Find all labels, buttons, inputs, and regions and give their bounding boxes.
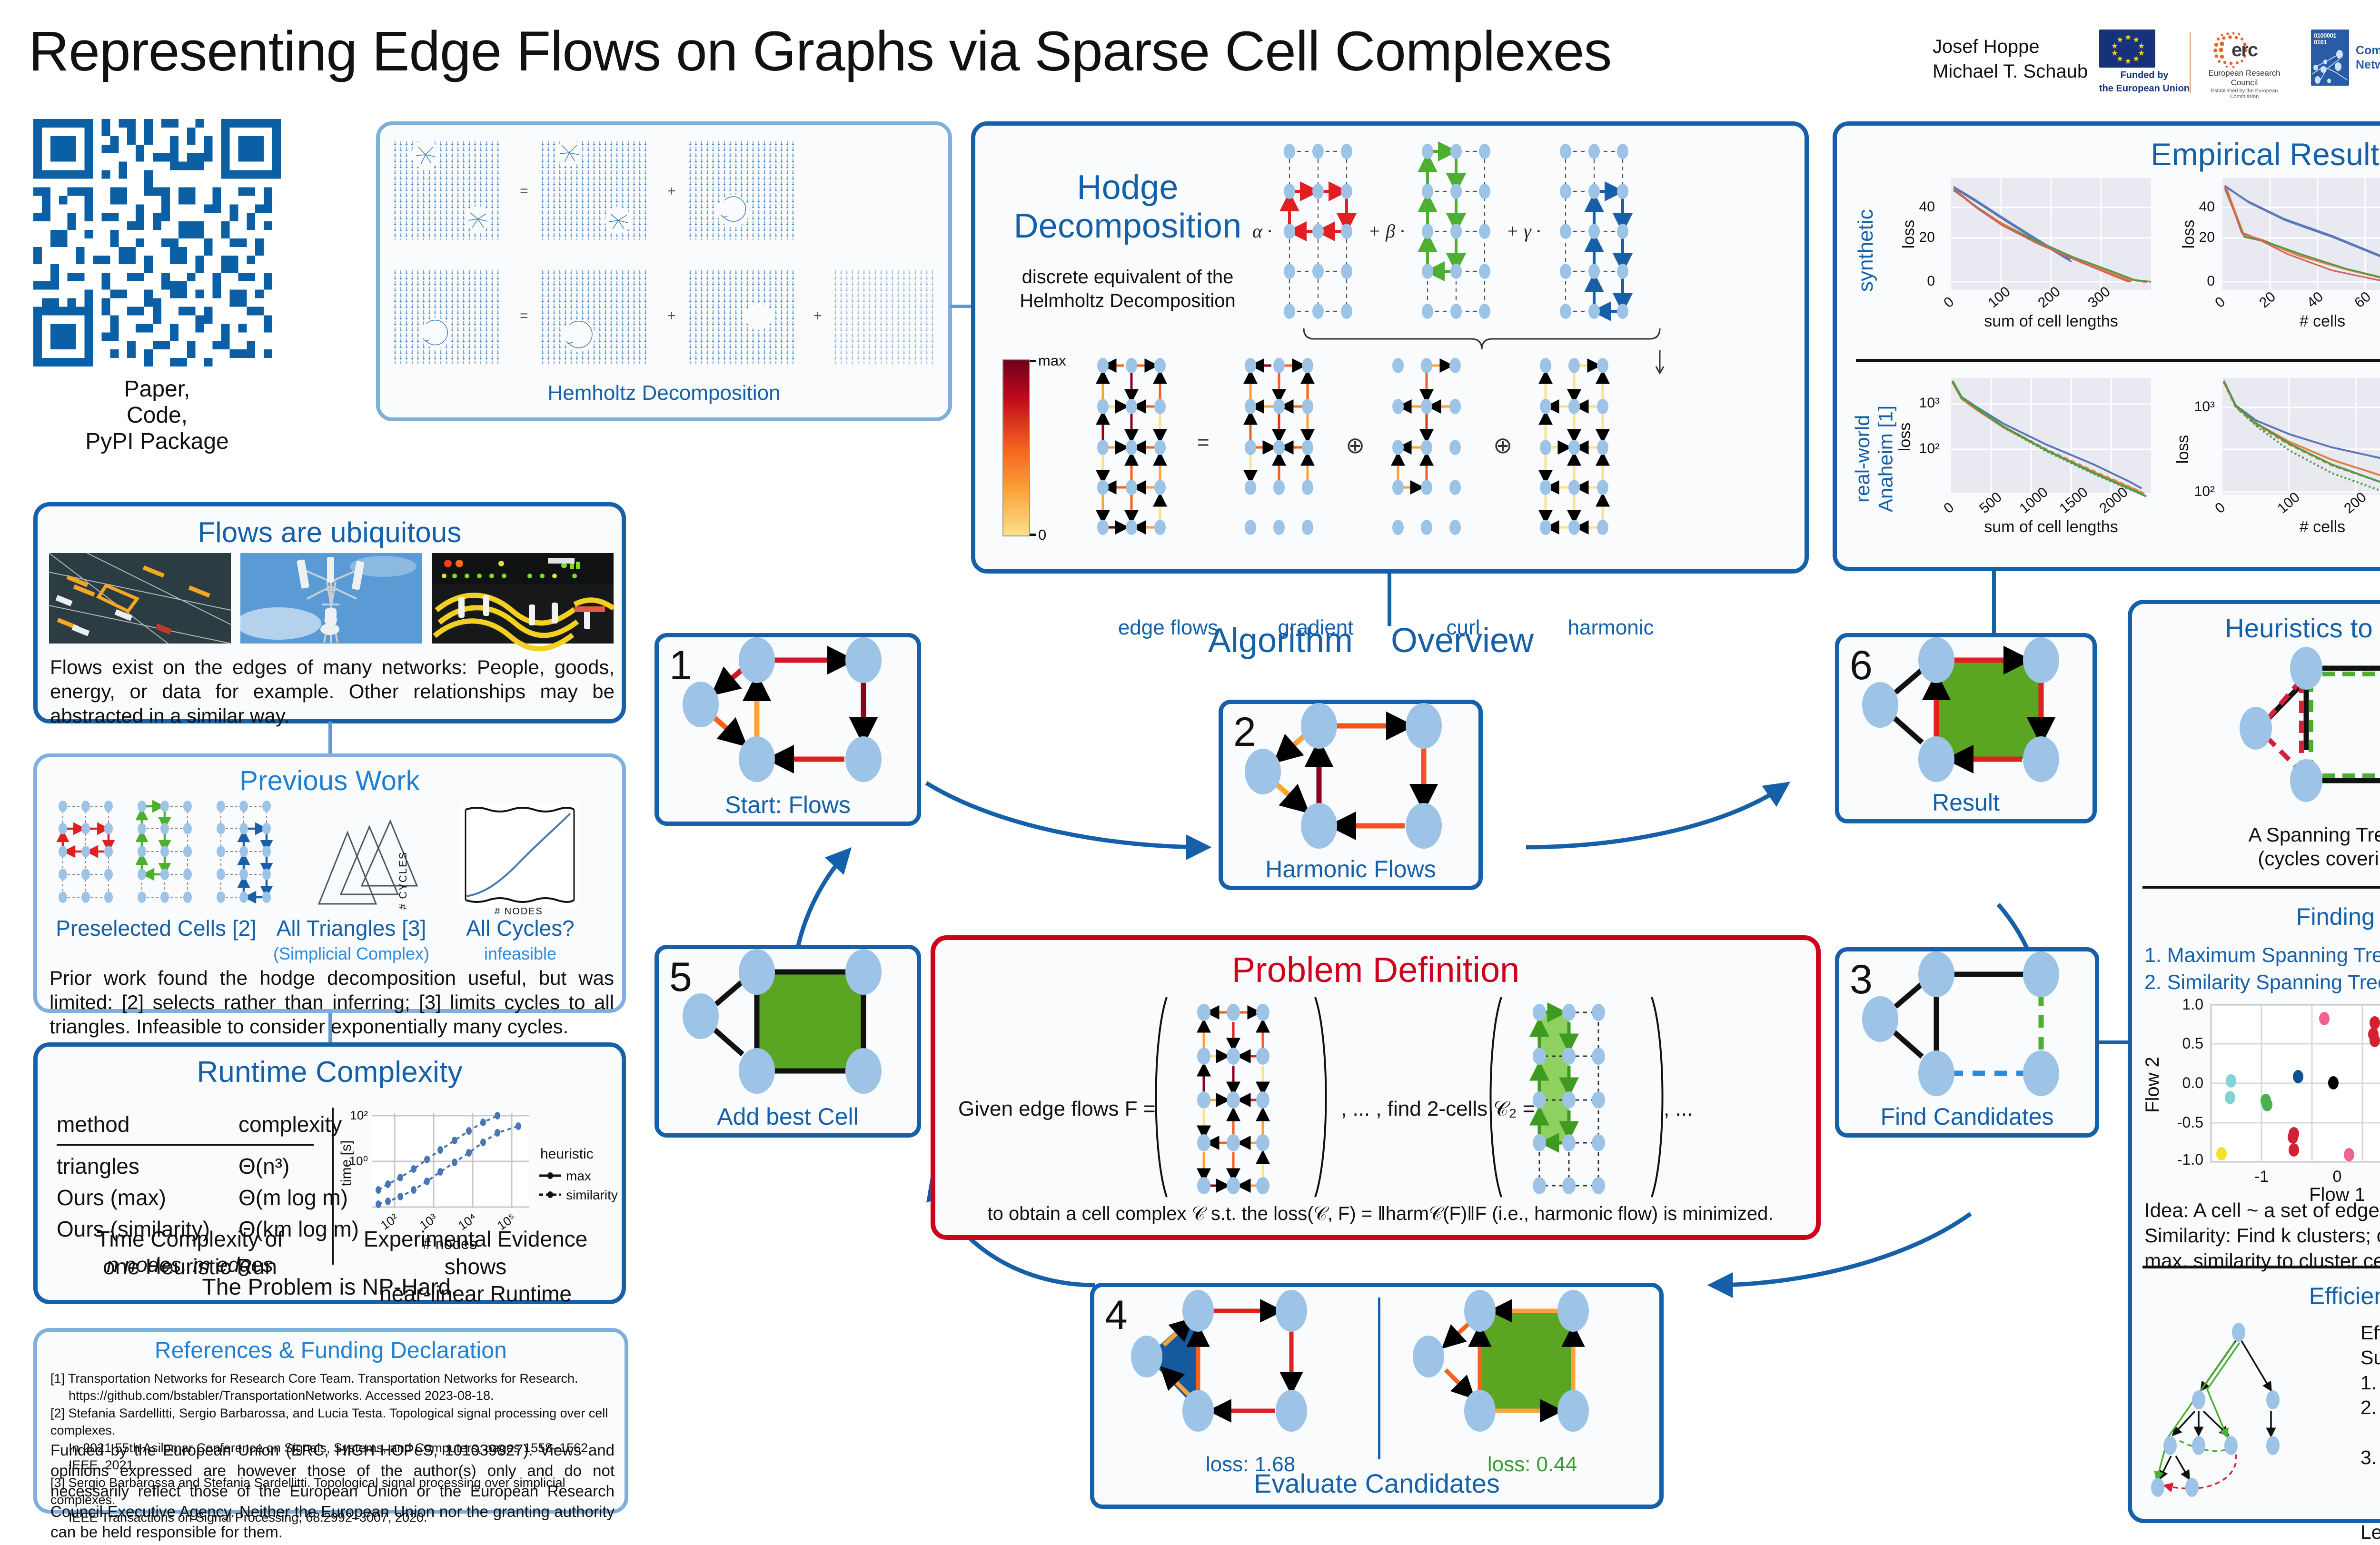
empirical-title: Empirical Results	[1837, 136, 2380, 172]
author-list: Josef Hoppe Michael T. Schaub	[1933, 34, 2088, 84]
svg-text:0: 0	[1927, 273, 1935, 289]
svg-text:erc: erc	[2231, 40, 2258, 60]
cns-logo: 0100001 0101 Computational Network Scien…	[2311, 30, 2380, 86]
heuristics-panel: Heuristics to find Cell Candidates A Spa…	[2128, 600, 2380, 1523]
svg-text:0.0: 0.0	[2182, 1074, 2203, 1091]
svg-text:-0.5: -0.5	[2177, 1114, 2203, 1131]
hodge-top-row: α ·	[1251, 140, 1794, 340]
efficient-line-4: between sums (green dashed line)	[2360, 1420, 2380, 1445]
previous-work-figures: # CYCLES # NODES	[46, 799, 617, 918]
cns-caption-line1: Computational	[2356, 43, 2380, 58]
problem-cell-grid	[1485, 992, 1676, 1211]
hodge-colorbar-min: 0	[1038, 526, 1046, 543]
previous-work-labels: Preselected Cells [2] All Triangles [3] …	[51, 915, 613, 964]
problem-footer: to obtain a cell complex 𝒞 s.t. the loss…	[954, 1203, 1806, 1225]
svg-text:0: 0	[1941, 499, 1957, 516]
svg-text:60: 60	[2351, 289, 2374, 311]
previous-work-label-2: All Triangles [3]	[261, 915, 442, 941]
funding-declaration: Funded by the European Union (ERC, HIGH-…	[50, 1440, 615, 1542]
efficient-line-6: (green and red dashed lines)	[2360, 1470, 2380, 1495]
references-title: References & Funding Declaration	[37, 1337, 625, 1364]
problem-lead: Given edge flows F =	[958, 1097, 1156, 1121]
author-name: Michael T. Schaub	[1933, 59, 2088, 84]
svg-text:10²: 10²	[350, 1108, 368, 1122]
svg-text:loss: loss	[2180, 220, 2198, 248]
spanning-tree-cycle-basis-figure	[2213, 649, 2380, 825]
flows-ubiquitous-panel: Flows are ubiquitous	[33, 502, 626, 723]
scatter-ylabel: Flow 2	[2142, 1057, 2163, 1113]
spanning-trees-title: Finding Spanning Trees	[2132, 903, 2380, 931]
cns-caption-line2: Network Science	[2356, 58, 2380, 72]
empirical-row-label-synthetic: synthetic	[1854, 179, 1878, 322]
spanning-idea-text: Idea: A cell ~ a set of edges with simil…	[2144, 1198, 2380, 1274]
svg-text:20: 20	[1919, 229, 1935, 245]
flows-ubiquitous-body: Flows exist on the edges of many network…	[50, 655, 615, 728]
svg-text:-1.0: -1.0	[2177, 1151, 2203, 1168]
step-1-start-flows: 1 Start: Flows	[654, 633, 921, 826]
previous-work-sub-2: (Simplicial Complex)	[261, 944, 442, 964]
svg-text:-1: -1	[2254, 1168, 2269, 1186]
runtime-divider	[332, 1108, 334, 1265]
step-4-label: Evaluate Candidates	[1094, 1468, 1659, 1499]
chart-synthetic-xlabel-2: # cells	[2300, 312, 2345, 330]
traffic-intersection-photo	[49, 553, 231, 644]
helmholtz-panel: = + =	[376, 121, 952, 421]
chart-synthetic: 0 100 200 300 sum of cell lengths 40 20 …	[1889, 173, 2380, 326]
spanning-idea-l1: Idea: A cell ~ a set of edges with simil…	[2144, 1198, 2380, 1223]
helmholtz-caption: Hemholtz Decomposition	[380, 381, 948, 405]
heuristics-divider-1	[2142, 886, 2380, 889]
vector-field-total	[392, 140, 502, 240]
helmholtz-plus-3: +	[813, 308, 822, 324]
svg-text:40: 40	[1919, 199, 1935, 215]
eu-funding-logo: ★ ★ ★ ★ ★ ★ ★ ★ ★ ★ Funded by the Europe…	[2099, 30, 2190, 94]
hodge-colorbar: max 0	[994, 354, 1047, 554]
step-4-left-graph	[1117, 1292, 1384, 1449]
reference-line-1: Stefania Sardellitti, Sergio Barbarossa,…	[50, 1406, 608, 1437]
efficient-footer: Length via lowest common ancestor	[2360, 1520, 2380, 1545]
efficient-line-5: 3. cycle flow = tree flow + edge flow	[2360, 1445, 2380, 1470]
runtime-panel: Runtime Complexity method complexity tri…	[33, 1042, 626, 1304]
qr-caption-line: Code,	[33, 402, 281, 428]
eu-caption-line2: the European Union	[2099, 83, 2190, 94]
runtime-legend-title: heuristic	[540, 1146, 594, 1162]
qr-caption: Paper, Code, PyPI Package	[33, 376, 281, 455]
problem-tail: , ...	[1664, 1097, 1693, 1121]
flows-ubiquitous-images	[49, 553, 614, 644]
cns-bits-line2: 0101	[2311, 39, 2349, 46]
problem-edge-flow-grid	[1150, 992, 1345, 1211]
previous-work-body: Prior work found the hodge decomposition…	[50, 966, 614, 1039]
efficient-tree-figure	[2151, 1318, 2351, 1508]
erc-subcaption: Established by the European Commission	[2201, 88, 2287, 99]
flow-cluster-scatter: 1.0 0.5 0.0 -0.5 -1.0 Flow 2 -1 0 1 Flow…	[2144, 1000, 2380, 1190]
reference-number: [1]	[50, 1371, 65, 1386]
spanning-item-2: 2. Similarity Spanning Trees (edges with…	[2144, 969, 2380, 996]
hodge-oplus-1: ⊕	[1346, 433, 1365, 458]
runtime-title: Runtime Complexity	[38, 1055, 622, 1089]
erc-logo: erc European Research Council Establishe…	[2201, 30, 2287, 99]
step-3-find-candidates: 3 Find Candidates	[1835, 947, 2099, 1138]
svg-text:10³: 10³	[2194, 399, 2215, 415]
runtime-legend-max: max	[566, 1169, 591, 1183]
empirical-results-panel: Empirical Results synthetic 0 100	[1833, 121, 2380, 571]
svg-text:20: 20	[2256, 289, 2279, 311]
step-4-right-graph	[1399, 1292, 1666, 1449]
complexity-table-header-method: method	[57, 1111, 238, 1142]
efficient-line-1: Sum of flows around induced cycles	[2360, 1345, 2380, 1370]
hodge-bottom-row: =	[1085, 354, 1785, 535]
svg-text:40: 40	[2199, 199, 2215, 215]
heuristics-caption-l2: (cycles covering the harmonic space)	[2132, 847, 2380, 871]
complexity-row-method: triangles	[57, 1150, 238, 1182]
runtime-left-caption: Time Complexity of one Heuristic Run	[57, 1226, 323, 1280]
chart-synthetic-xlabel-1: sum of cell lengths	[1984, 312, 2118, 330]
helmholtz-eq-2: =	[520, 308, 528, 324]
step-6-label: Result	[1839, 789, 2092, 816]
helmholtz-plus-1: +	[667, 183, 676, 199]
svg-text:0: 0	[2333, 1168, 2342, 1186]
svg-text:10²: 10²	[2194, 484, 2215, 499]
hodge-gamma: + γ ·	[1506, 220, 1541, 242]
logo-divider	[2190, 32, 2191, 93]
empirical-divider	[1856, 359, 2380, 362]
efficient-line-2: 1. sum up flows from root to all nodes	[2360, 1370, 2380, 1395]
connector-step3-heuristics	[2099, 1040, 2129, 1044]
hodge-subtitle-line1: discrete equivalent of the	[1004, 265, 1251, 289]
table-row: Ours (max)Θ(m log m)	[57, 1182, 387, 1213]
cns-bits-line1: 0100001	[2311, 30, 2349, 39]
runtime-chart-ylabel: time [s]	[338, 1140, 354, 1187]
runtime-left-caption-l1: Time Complexity of	[57, 1226, 323, 1253]
all-cycles-sketch: # CYCLES # NODES	[397, 802, 579, 917]
eu-caption-line1: Funded by	[2099, 70, 2190, 81]
previous-work-title: Previous Work	[37, 765, 622, 797]
hodge-colorbar-max: max	[1038, 352, 1066, 369]
heuristics-divider-2	[2142, 1266, 2380, 1268]
connector-hodge-algorithm	[1388, 574, 1391, 626]
runtime-legend-similarity: similarity	[566, 1188, 618, 1202]
efficient-line-3: 2. flow through tree = difference	[2360, 1395, 2380, 1420]
hodge-title-line1: Hodge	[1004, 168, 1251, 207]
spanning-item-1: 1. Maximum Spanning Tree (by edge flows)	[2144, 942, 2380, 969]
runtime-footer: The Problem is NP-Hard.	[38, 1274, 622, 1300]
svg-text:0: 0	[2212, 499, 2228, 516]
previous-work-sub-3: infeasible	[442, 944, 599, 964]
svg-text:40: 40	[2304, 289, 2326, 311]
cns-network-icon: 0100001 0101	[2311, 30, 2349, 86]
helmholtz-eq-1: =	[520, 183, 528, 199]
svg-text:0: 0	[2212, 294, 2228, 311]
eu-flag-icon: ★ ★ ★ ★ ★ ★ ★ ★ ★ ★	[2099, 30, 2155, 68]
spanning-trees-items: 1. Maximum Spanning Tree (by edge flows)…	[2144, 942, 2380, 996]
sketch-ylabel: # CYCLES	[397, 852, 409, 910]
step-1-label: Start: Flows	[659, 791, 917, 819]
reference-line-1: Transportation Networks for Research Cor…	[68, 1371, 578, 1386]
connector-helmholtz-hodge	[950, 305, 972, 308]
step-5-label: Add best Cell	[659, 1103, 917, 1130]
hodge-oplus-2: ⊕	[1493, 433, 1512, 458]
step-3-label: Find Candidates	[1839, 1103, 2095, 1130]
reference-line-2: https://github.com/bstabler/Transportati…	[50, 1387, 615, 1404]
hodge-alpha: α ·	[1252, 220, 1272, 242]
chart-realworld-xlabel-2: # cells	[2300, 518, 2345, 536]
table-row: trianglesΘ(n³)	[57, 1150, 387, 1182]
hodge-panel: Hodge Decomposition discrete equivalent …	[971, 121, 1809, 574]
previous-work-panel: Previous Work	[33, 753, 626, 1013]
efficient-line-0: Efficient computing on spanning trees:	[2360, 1320, 2380, 1345]
heuristics-title: Heuristics to find Cell Candidates	[2132, 613, 2380, 644]
svg-text:10³: 10³	[1919, 395, 1940, 411]
heuristics-caption-l1: A Spanning Tree induces a Cycle Basis	[2132, 823, 2380, 847]
svg-text:loss: loss	[1896, 423, 1914, 451]
hodge-title-line2: Decomposition	[1004, 207, 1251, 246]
svg-text:0: 0	[1941, 294, 1957, 311]
erc-caption: European Research Council	[2201, 69, 2287, 88]
svg-text:20: 20	[2199, 229, 2215, 245]
step-2-harmonic-flows: 2 Harmonic Flows	[1219, 700, 1483, 890]
hodge-eq: =	[1197, 431, 1210, 454]
poster-root: Representing Edge Flows on Graphs via Sp…	[0, 0, 2380, 1542]
svg-text:0.5: 0.5	[2182, 1035, 2203, 1052]
author-name: Josef Hoppe	[1933, 34, 2088, 59]
step-5-add-best-cell: 5 Add best Cell	[654, 945, 921, 1138]
heuristics-caption: A Spanning Tree induces a Cycle Basis (c…	[2132, 823, 2380, 871]
chart-realworld: 0 500 1000 1500 2000 sum of cell lengths…	[1889, 373, 2380, 530]
hodge-subtitle-line2: Helmholtz Decomposition	[1004, 289, 1251, 313]
helmholtz-plus-2: +	[667, 308, 676, 324]
qr-caption-line: PyPI Package	[33, 428, 281, 455]
step-4-evaluate-candidates: 4 loss: 1.68	[1090, 1283, 1664, 1509]
flows-ubiquitous-title: Flows are ubiquitous	[38, 516, 622, 549]
svg-text:10²: 10²	[1919, 441, 1940, 456]
svg-text:loss: loss	[2174, 435, 2192, 464]
hodge-beta: + β ·	[1368, 220, 1405, 242]
cell-tower-photo	[240, 553, 422, 644]
efficient-computation-title: Efficient Computation	[2132, 1282, 2380, 1310]
spanning-idea-l3: max. similarity to cluster center.	[2144, 1248, 2380, 1274]
previous-work-label-3: All Cycles?	[442, 915, 599, 941]
reference-number: [2]	[50, 1406, 65, 1420]
network-cables-photo	[432, 553, 614, 644]
chart-realworld-xlabel-1: sum of cell lengths	[1984, 518, 2118, 536]
svg-text:loss: loss	[1900, 220, 1918, 248]
svg-text:0: 0	[2207, 273, 2215, 289]
step-6-result: 6 Result	[1835, 633, 2097, 823]
connector-flows-previous	[328, 722, 332, 755]
qr-code[interactable]	[33, 119, 281, 366]
problem-definition-title: Problem Definition	[935, 950, 1816, 990]
reference-entry: [1] Transportation Networks for Research…	[50, 1370, 615, 1405]
problem-definition-panel: Problem Definition Given edge flows F =	[931, 935, 1821, 1240]
runtime-right-caption-l1: Experimental Evidence shows	[337, 1226, 614, 1280]
efficient-computation-text: Efficient computing on spanning trees: S…	[2360, 1320, 2380, 1545]
step-2-label: Harmonic Flows	[1223, 855, 1478, 883]
complexity-row-method: Ours (max)	[57, 1182, 238, 1213]
references-panel: References & Funding Declaration [1] Tra…	[33, 1328, 628, 1514]
page-title: Representing Edge Flows on Graphs via Sp…	[29, 19, 1933, 90]
erc-dots-icon: erc	[2204, 30, 2285, 69]
svg-text:1.0: 1.0	[2182, 996, 2203, 1013]
complexity-table: method complexity trianglesΘ(n³) Ours (m…	[57, 1111, 387, 1245]
spanning-idea-l2: Similarity: Find k clusters; one spannin…	[2144, 1223, 2380, 1248]
connector-previous-runtime	[328, 1013, 332, 1042]
previous-work-label-1: Preselected Cells [2]	[51, 915, 261, 941]
qr-caption-line: Paper,	[33, 376, 281, 402]
